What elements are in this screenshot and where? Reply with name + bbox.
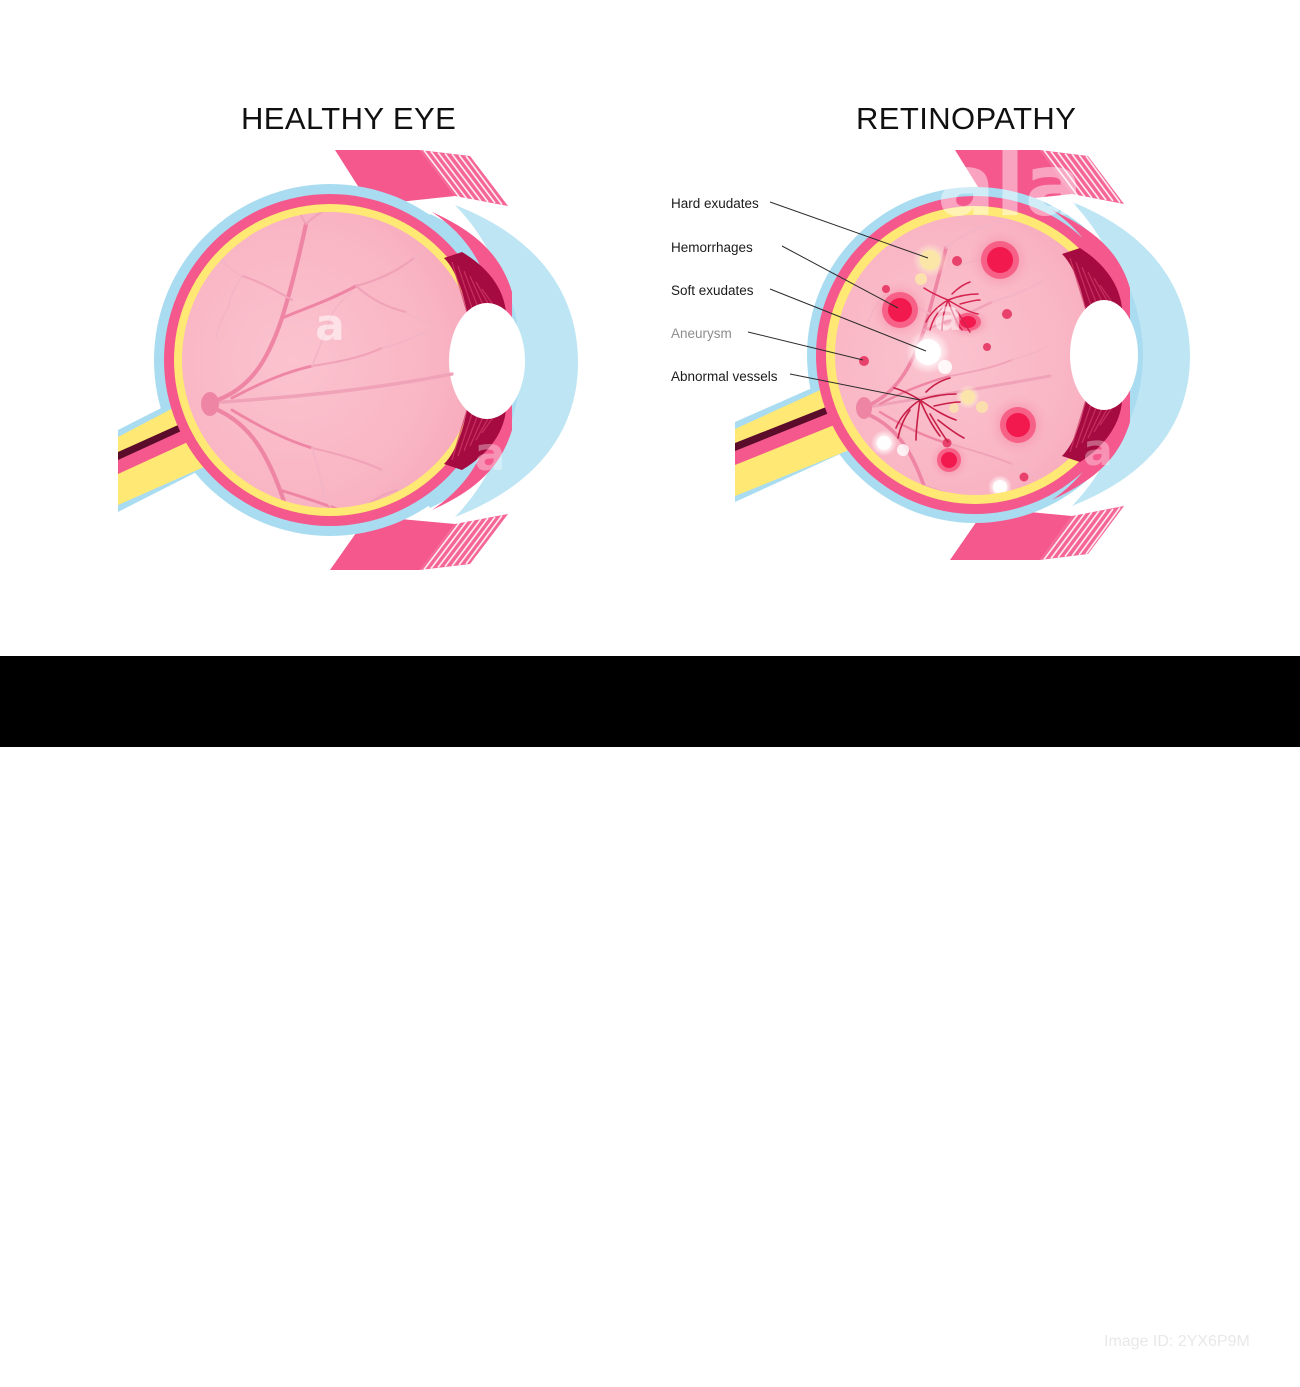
label-aneurysm: Aneurysm [671,326,732,341]
sclera-retinopathy [807,187,1143,523]
hemorrhage-lesion [944,307,992,339]
watermark-letter: ala [937,136,1083,236]
abnormal-vessel-tuft [894,378,964,442]
cornea-retinopathy [1072,202,1190,506]
watermark-letter: a [934,291,962,340]
extraocular-muscle-superior-r [955,150,1124,204]
leader-hard-exudates [770,202,928,258]
ciliary-body-superior-healthy [444,252,506,330]
choroid-outer-retinopathy [816,196,1134,514]
hemorrhage-lesion [986,393,1050,457]
watermark-letter: a [315,300,345,351]
alamy-url-text: www.alamy.com [1108,1358,1254,1380]
soft-exudate-lesion [988,475,1012,499]
lens-healthy [449,303,525,419]
eye-diagram-artwork: a a [0,0,1300,660]
retina-retinopathy [835,215,1115,495]
choroid-yellow-healthy [174,204,486,516]
abnormal-vessel-tuft [924,282,980,332]
label-abnormal-vessels: Abnormal vessels [671,369,778,384]
hemorrhage-lesion [928,439,970,481]
optic-nerve-healthy [118,370,238,512]
soft-exudate-lesion [871,430,909,456]
leader-aneurysm [748,332,863,360]
hemorrhage-lesion [869,279,931,341]
retina-healthy [182,212,478,508]
leader-hemorrhages [782,246,898,308]
extraocular-muscle-inferior-r [950,506,1124,560]
panel-title-retinopathy: RETINOPATHY [856,101,1076,137]
ciliary-body-superior-retinopathy [1062,248,1122,324]
leader-abnormal-vessels [790,374,920,400]
leader-soft-exudates [770,289,926,351]
watermark-letter: a [1083,425,1113,476]
label-soft-exudates: Soft exudates [671,283,754,298]
watermark-letter: a [474,427,505,481]
retinal-vessels-healthy [201,180,452,602]
soft-exudate-lesion [906,330,952,374]
choroid-yellow-retinopathy [826,206,1124,504]
alamy-watermark-bar: alamy Image ID: 2YX6P9M www.alamy.com [0,656,1300,747]
panel-title-healthy: HEALTHY EYE [241,101,456,137]
alamy-logo: alamy [45,1334,155,1387]
healthy-eye-illustration: a a [118,150,578,602]
hard-exudate-lesion [913,243,947,285]
image-id-text: Image ID: 2YX6P9M [1104,1333,1250,1351]
optic-nerve-retinopathy [735,366,864,502]
ciliary-body-inferior-retinopathy [1062,386,1122,462]
cornea-healthy [455,205,578,517]
hard-exudate-lesion [949,385,988,413]
microaneurysm [859,256,1029,482]
label-hard-exudates: Hard exudates [671,196,759,211]
ciliary-body-inferior-healthy [444,392,506,470]
extraocular-muscle-superior [335,150,508,206]
retinopathy-eye-illustration: a a ala [735,136,1190,588]
retinal-vessels-retinopathy [856,218,1050,588]
choroid-outer-healthy [164,194,496,526]
hemorrhage-lesion [967,227,1033,293]
extraocular-muscle-inferior [330,514,508,570]
lens-retinopathy [1070,300,1138,410]
sclera-healthy [154,184,506,536]
figure-canvas: HEALTHY EYE RETINOPATHY [0,0,1300,747]
label-hemorrhages: Hemorrhages [671,240,753,255]
